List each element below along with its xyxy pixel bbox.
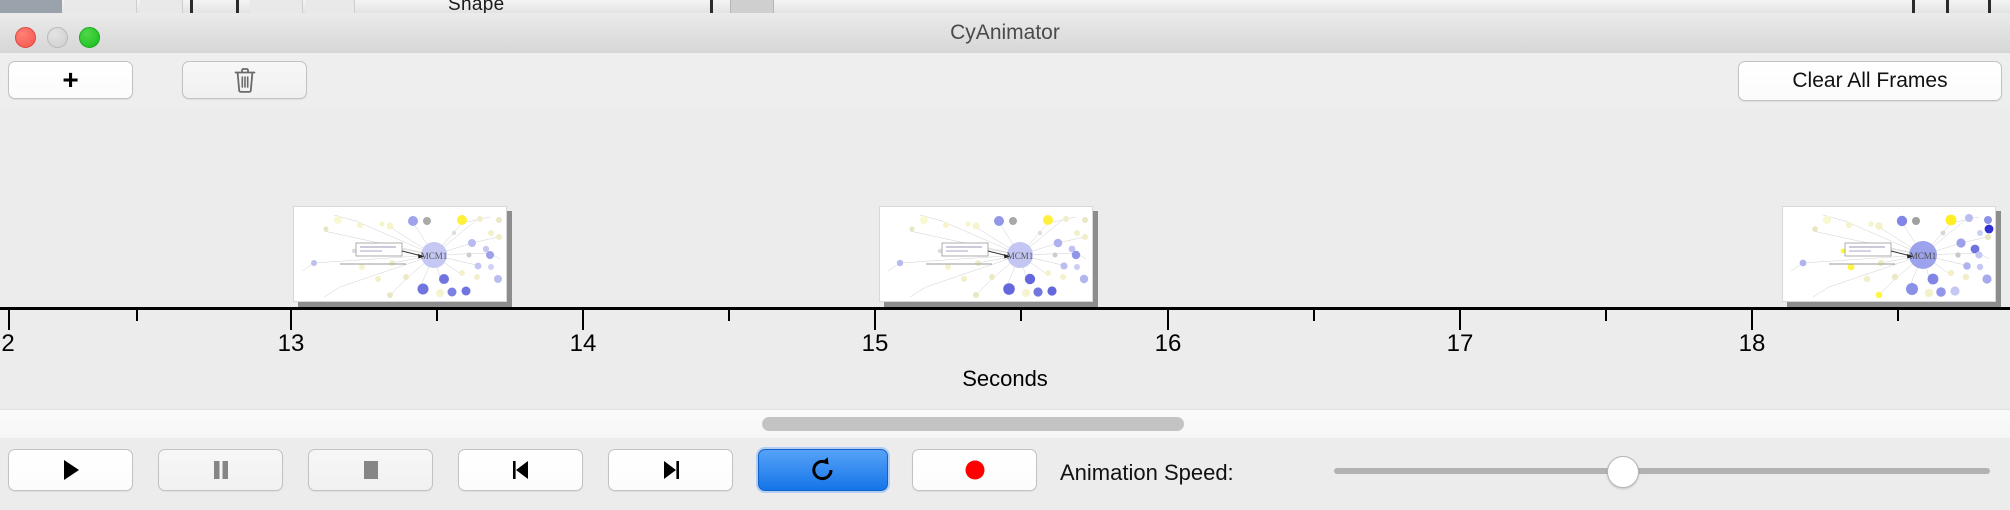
skip-previous-button[interactable]: [458, 449, 583, 491]
svg-text:MCM1: MCM1: [1007, 251, 1034, 261]
axis-tick-minor: [1020, 310, 1022, 321]
background-mark: [190, 0, 193, 13]
plus-icon: +: [62, 66, 78, 94]
axis-label: 14: [570, 330, 597, 358]
delete-frame-button[interactable]: [182, 61, 307, 99]
window-title: CyAnimator: [0, 13, 2010, 53]
axis-tick-major: [1459, 310, 1461, 330]
timeline-pane[interactable]: MCM1: [0, 108, 2010, 409]
timeline-frame[interactable]: MCM1: [1782, 206, 1996, 302]
axis-label: 18: [1739, 330, 1766, 358]
axis-tick-major: [1751, 310, 1753, 330]
background-mark: [710, 0, 713, 13]
toolbar: + Clear All Frames: [0, 53, 2010, 109]
timeline-frame[interactable]: MCM1: [293, 206, 507, 302]
loop-button[interactable]: [758, 449, 888, 491]
axis-title: Seconds: [0, 366, 2010, 392]
background-mark: [236, 0, 239, 13]
record-button[interactable]: [912, 449, 1037, 491]
axis-tick-minor: [728, 310, 730, 321]
network-thumbnail: MCM1: [1783, 207, 1995, 301]
background-chunk: [306, 0, 355, 13]
background-grey-box: [730, 0, 774, 13]
axis-tick-major: [874, 310, 876, 330]
axis-tick-major: [582, 310, 584, 330]
svg-text:MCM1: MCM1: [421, 251, 448, 261]
stop-icon: [358, 457, 384, 483]
network-thumbnail: MCM1: [880, 207, 1092, 301]
axis-label: 2: [1, 330, 14, 358]
timeline-frame[interactable]: MCM1: [879, 206, 1093, 302]
axis-label: 17: [1447, 330, 1474, 358]
title-bar: CyAnimator: [0, 13, 2010, 54]
axis-tick-minor: [1605, 310, 1607, 321]
pause-icon: [208, 457, 234, 483]
axis-tick-minor: [1897, 310, 1899, 321]
record-icon: [962, 457, 988, 483]
timeline-scrollbar[interactable]: [0, 409, 2010, 439]
axis-tick-major: [8, 310, 10, 330]
play-button[interactable]: [8, 449, 133, 491]
skip-next-icon: [658, 457, 684, 483]
play-icon: [58, 457, 84, 483]
axis-tick-minor: [436, 310, 438, 321]
background-chunk: [64, 0, 137, 13]
clear-all-frames-button[interactable]: Clear All Frames: [1738, 61, 2002, 101]
background-chunk: [250, 0, 303, 13]
clear-all-frames-label: Clear All Frames: [1792, 69, 1947, 93]
background-chunk: [140, 0, 183, 13]
loop-icon: [809, 456, 837, 484]
player-bar: Animation Speed:: [0, 438, 2010, 510]
background-window-strip: Shape: [0, 0, 2010, 13]
axis-tick-minor: [136, 310, 138, 321]
animation-speed-slider-track[interactable]: [1334, 468, 1990, 474]
network-thumbnail: MCM1: [294, 207, 506, 301]
axis-tick-major: [1167, 310, 1169, 330]
add-frame-button[interactable]: +: [8, 61, 133, 99]
animation-speed-label: Animation Speed:: [1060, 460, 1234, 486]
axis-label: 15: [862, 330, 889, 358]
scrollbar-thumb[interactable]: [762, 417, 1184, 431]
background-mark: [1912, 0, 1915, 13]
timeline-axis: [0, 307, 2010, 310]
trash-icon: [232, 66, 258, 94]
animation-speed-slider-thumb[interactable]: [1607, 456, 1639, 488]
skip-next-button[interactable]: [608, 449, 733, 491]
background-mark: [1988, 0, 1991, 13]
svg-text:MCM1: MCM1: [1910, 251, 1937, 261]
pause-button[interactable]: [158, 449, 283, 491]
background-window-label: Shape: [448, 0, 504, 13]
background-tab: [0, 0, 62, 13]
skip-previous-icon: [508, 457, 534, 483]
background-mark: [1946, 0, 1949, 13]
axis-tick-major: [290, 310, 292, 330]
cyanimator-window: Shape CyAnimator + Clear All Frames: [0, 0, 2010, 510]
axis-label: 16: [1155, 330, 1182, 358]
axis-tick-minor: [1313, 310, 1315, 321]
stop-button[interactable]: [308, 449, 433, 491]
axis-label: 13: [278, 330, 305, 358]
